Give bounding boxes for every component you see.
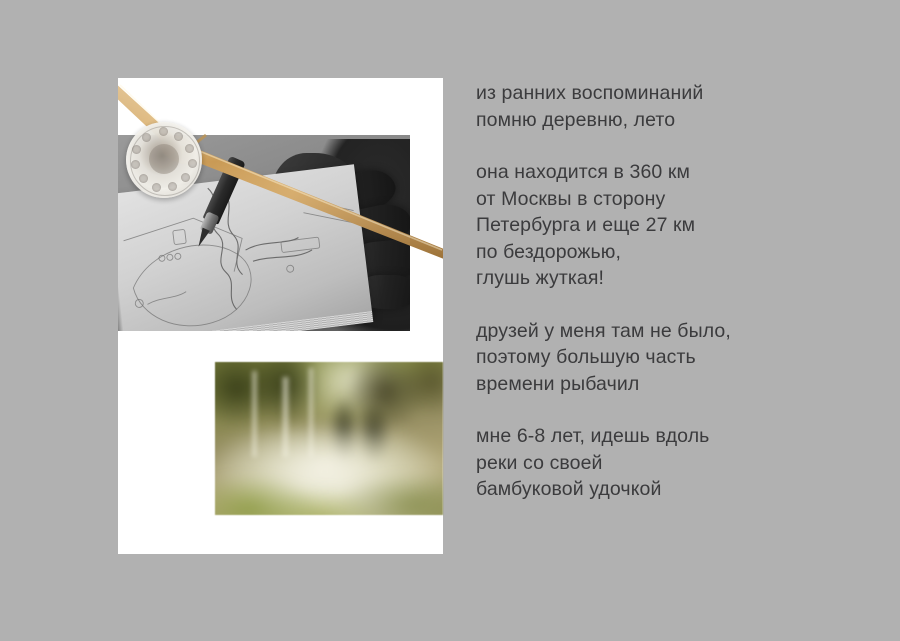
text-column: из ранних воспоминаний помню деревню, ле… xyxy=(476,80,876,503)
photo-pencil-drawing xyxy=(118,164,372,331)
photo-pen-nib xyxy=(195,228,210,249)
forest-grass-foreground xyxy=(215,460,443,515)
paragraph-3: друзей у меня там не было, поэтому больш… xyxy=(476,318,876,398)
grayscale-photo-hand-sketching-notebook xyxy=(118,135,410,331)
slide-canvas: из ранних воспоминаний помню деревню, ле… xyxy=(0,0,900,636)
paragraph-2: она находится в 360 км от Москвы в сторо… xyxy=(476,159,876,292)
blurred-green-forest-river-photo xyxy=(215,362,443,515)
photo-sketchbook xyxy=(118,164,372,331)
paragraph-1: из ранних воспоминаний помню деревню, ле… xyxy=(476,80,876,133)
paragraph-4: мне 6-8 лет, идешь вдоль реки со своей б… xyxy=(476,423,876,503)
